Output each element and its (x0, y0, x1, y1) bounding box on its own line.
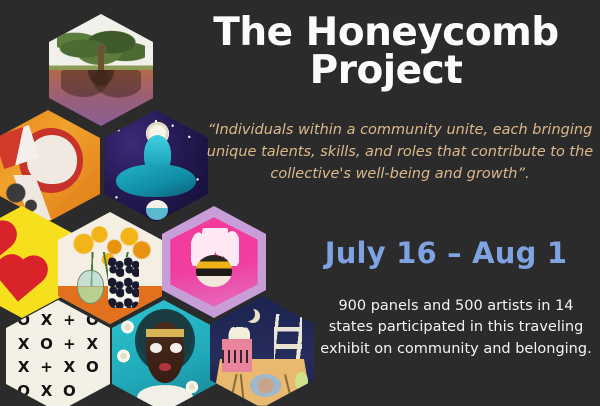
bee-icon (196, 255, 231, 286)
hex-pink-bee (162, 206, 266, 318)
xo-cell: O (40, 337, 53, 352)
genie-lamp-icon (116, 164, 195, 198)
white-flower-icon (183, 378, 202, 396)
lips-icon (159, 363, 171, 371)
poster-canvas: O X + O X O + X X + X O O X O (0, 0, 600, 406)
hex-blue-genie (104, 110, 208, 222)
flower-vases-artwork (58, 212, 162, 324)
xo-cell: X (18, 337, 30, 352)
white-flower-icon (118, 318, 137, 336)
xo-cell: X (87, 337, 99, 352)
heart-icon (0, 260, 42, 302)
tree-trunk-icon (98, 45, 104, 72)
xo-cell: O (86, 360, 99, 375)
xo-cell: X (41, 313, 53, 328)
exhibit-dates: July 16 – Aug 1 (300, 236, 592, 270)
eye-icon (170, 343, 181, 353)
crescent-moon-icon (241, 307, 255, 320)
hex-portrait-face (112, 300, 216, 406)
hex-night-table (210, 296, 314, 406)
xo-cell: X (64, 360, 76, 375)
flower-pot-icon (222, 339, 251, 373)
blue-genie-artwork (104, 110, 208, 222)
page-title: The Honeycomb Project (180, 14, 592, 90)
xo-cell: + (63, 337, 76, 352)
hex-tree-of-life (49, 14, 153, 126)
eye-icon (150, 343, 161, 353)
hex-orange-cat (0, 110, 100, 222)
xo-cell: O (17, 384, 30, 399)
portrait-face-artwork (112, 300, 216, 406)
tree-roots-icon (61, 70, 140, 119)
title-line-2: Project (180, 52, 592, 90)
glass-vase-icon (77, 270, 104, 304)
quote-text: “Individuals within a community unite, e… (205, 119, 595, 185)
exhibit-description: 900 panels and 500 artists in 14 states … (318, 296, 594, 360)
plate-icon (250, 374, 281, 396)
orange-cat-artwork (0, 110, 100, 222)
tree-of-life-artwork (49, 14, 153, 126)
headband-icon (146, 329, 183, 337)
xo-cell: X (18, 360, 30, 375)
white-flower-icon (114, 347, 133, 365)
pear-icon (295, 372, 307, 390)
xo-grid: O X + O X O + X X + X O O X O (12, 309, 104, 403)
xo-cell: + (40, 360, 53, 375)
xo-cell: X (41, 384, 53, 399)
polka-dot-vase-icon (108, 257, 139, 309)
xo-cell: + (63, 313, 76, 328)
xo-cell: O (63, 384, 76, 399)
pink-bee-artwork (162, 206, 266, 318)
genie-orb-icon (146, 200, 169, 220)
hex-flower-vases (58, 212, 162, 324)
night-table-artwork (210, 296, 314, 406)
